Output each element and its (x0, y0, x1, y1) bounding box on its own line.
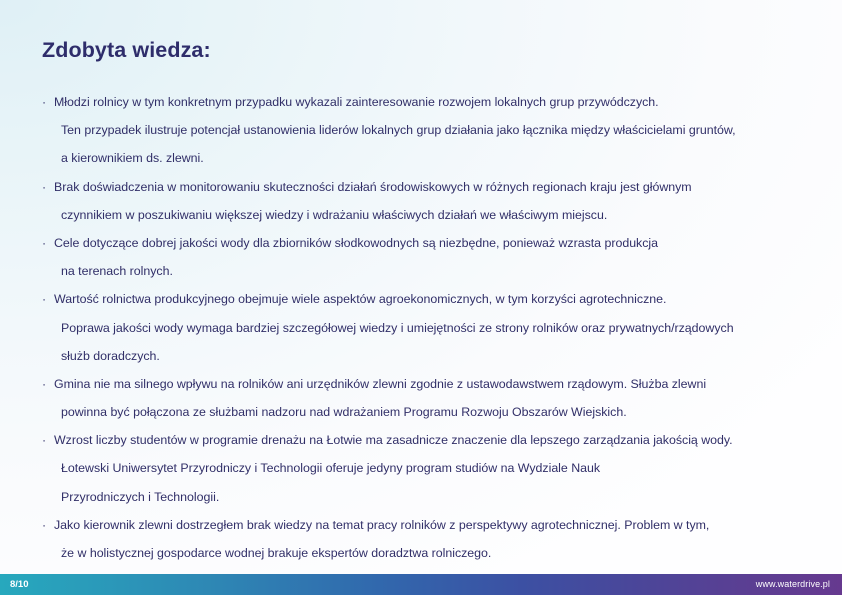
bullet-marker-icon: · (42, 426, 46, 454)
list-item: ·Wartość rolnictwa produkcyjnego obejmuj… (42, 285, 834, 370)
website-link[interactable]: www.waterdrive.pl (756, 574, 830, 595)
bullet-text: na terenach rolnych. (61, 264, 173, 278)
bullet-continuation-line: Łotewski Uniwersytet Przyrodniczy i Tech… (42, 454, 834, 482)
bullet-continuation-line: Przyrodniczych i Technologii. (42, 483, 834, 511)
presentation-slide: Zdobyta wiedza: ·Młodzi rolnicy w tym ko… (0, 0, 842, 595)
list-item: ·Młodzi rolnicy w tym konkretnym przypad… (42, 88, 834, 173)
bullet-continuation-line: Ten przypadek ilustruje potencjał ustano… (42, 116, 834, 144)
bullet-list: ·Młodzi rolnicy w tym konkretnym przypad… (42, 88, 834, 567)
bullet-text: Wartość rolnictwa produkcyjnego obejmuje… (54, 292, 666, 306)
bullet-text: Gmina nie ma silnego wpływu na rolników … (54, 377, 706, 391)
bullet-marker-icon: · (42, 229, 46, 257)
bullet-continuation-line: a kierownikiem ds. zlewni. (42, 144, 834, 172)
list-item: ·Gmina nie ma silnego wpływu na rolników… (42, 370, 834, 426)
bullet-text: Łotewski Uniwersytet Przyrodniczy i Tech… (61, 461, 600, 475)
bullet-text: Cele dotyczące dobrej jakości wody dla z… (54, 236, 658, 250)
bullet-text: że w holistycznej gospodarce wodnej brak… (61, 546, 491, 560)
page-title: Zdobyta wiedza: (42, 38, 211, 63)
bullet-marker-icon: · (42, 370, 46, 398)
bullet-text: powinna być połączona ze służbami nadzor… (61, 405, 627, 419)
bullet-text: Poprawa jakości wody wymaga bardziej szc… (61, 321, 734, 335)
bullet-text: Brak doświadczenia w monitorowaniu skute… (54, 180, 692, 194)
bullet-continuation-line: Poprawa jakości wody wymaga bardziej szc… (42, 314, 834, 342)
list-item: ·Cele dotyczące dobrej jakości wody dla … (42, 229, 834, 285)
bullet-text: Młodzi rolnicy w tym konkretnym przypadk… (54, 95, 659, 109)
bullet-continuation-line: na terenach rolnych. (42, 257, 834, 285)
bullet-continuation-line: że w holistycznej gospodarce wodnej brak… (42, 539, 834, 567)
bullet-text: Ten przypadek ilustruje potencjał ustano… (61, 123, 736, 137)
bullet-first-line: ·Brak doświadczenia w monitorowaniu skut… (42, 173, 834, 201)
bullet-text: Przyrodniczych i Technologii. (61, 490, 219, 504)
bullet-continuation-line: powinna być połączona ze służbami nadzor… (42, 398, 834, 426)
bullet-text: Wzrost liczby studentów w programie dren… (54, 433, 733, 447)
bullet-first-line: ·Wartość rolnictwa produkcyjnego obejmuj… (42, 285, 834, 313)
bullet-first-line: ·Młodzi rolnicy w tym konkretnym przypad… (42, 88, 834, 116)
bullet-first-line: ·Cele dotyczące dobrej jakości wody dla … (42, 229, 834, 257)
bullet-first-line: ·Wzrost liczby studentów w programie dre… (42, 426, 834, 454)
list-item: ·Brak doświadczenia w monitorowaniu skut… (42, 173, 834, 229)
bullet-first-line: ·Gmina nie ma silnego wpływu na rolników… (42, 370, 834, 398)
bullet-marker-icon: · (42, 511, 46, 539)
bullet-first-line: ·Jako kierownik zlewni dostrzegłem brak … (42, 511, 834, 539)
bullet-continuation-line: czynnikiem w poszukiwaniu większej wiedz… (42, 201, 834, 229)
bullet-marker-icon: · (42, 173, 46, 201)
page-number: 8/10 (10, 574, 29, 595)
bullet-continuation-line: służb doradczych. (42, 342, 834, 370)
list-item: ·Jako kierownik zlewni dostrzegłem brak … (42, 511, 834, 567)
bullet-marker-icon: · (42, 285, 46, 313)
slide-footer: 8/10 www.waterdrive.pl (0, 574, 842, 595)
bullet-text: służb doradczych. (61, 349, 160, 363)
bullet-marker-icon: · (42, 88, 46, 116)
bullet-text: czynnikiem w poszukiwaniu większej wiedz… (61, 208, 607, 222)
bullet-text: Jako kierownik zlewni dostrzegłem brak w… (54, 518, 709, 532)
list-item: ·Wzrost liczby studentów w programie dre… (42, 426, 834, 511)
bullet-text: a kierownikiem ds. zlewni. (61, 151, 204, 165)
